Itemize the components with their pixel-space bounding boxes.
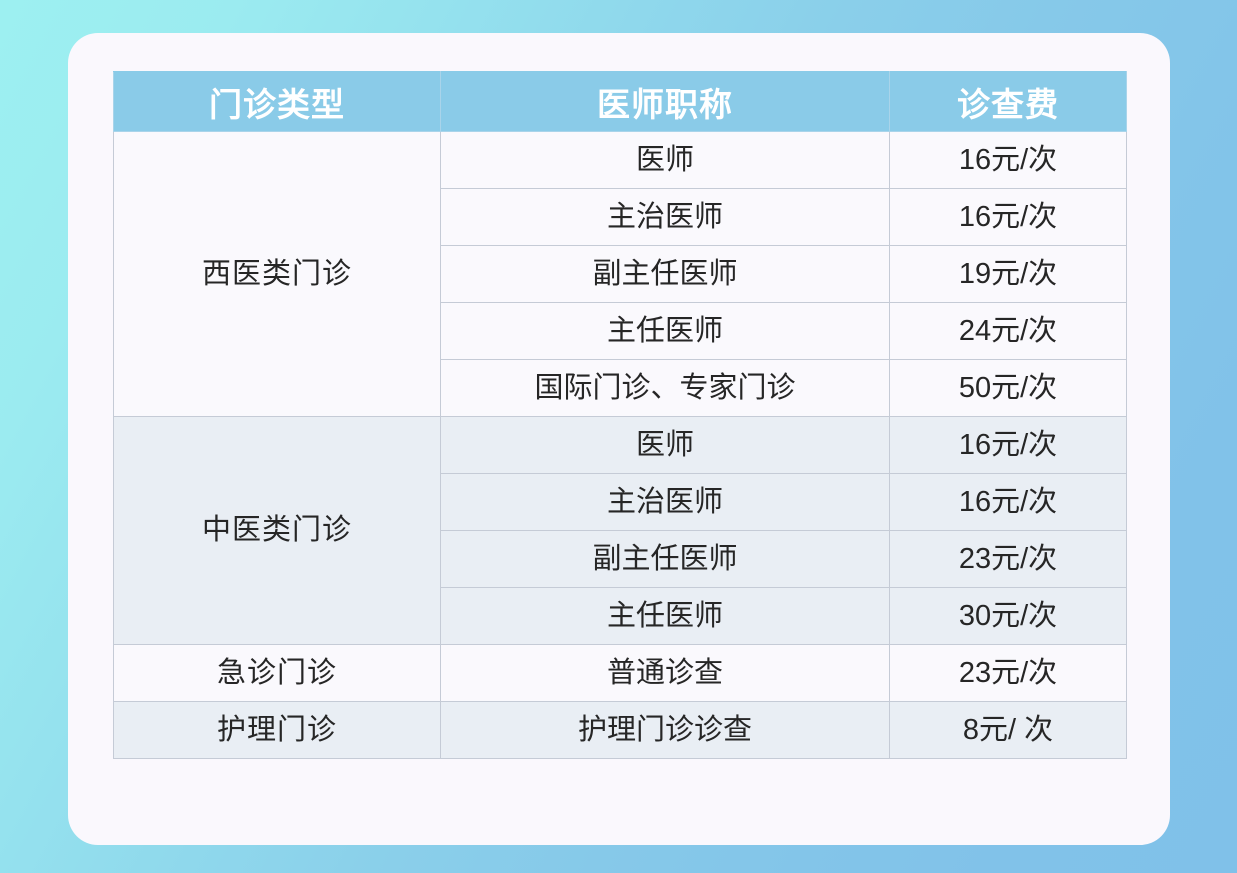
doctor-title-cell: 普通诊查 xyxy=(441,645,890,702)
column-header-title: 医师职称 xyxy=(441,72,890,132)
column-header-fee: 诊查费 xyxy=(890,72,1127,132)
consultation-fee-cell: 23元/次 xyxy=(890,645,1127,702)
table-row: 急诊门诊普通诊查23元/次 xyxy=(114,645,1127,702)
outpatient-type-cell: 护理门诊 xyxy=(114,702,441,759)
table-header-row: 门诊类型 医师职称 诊查费 xyxy=(114,72,1127,132)
consultation-fee-cell: 19元/次 xyxy=(890,246,1127,303)
consultation-fee-cell: 16元/次 xyxy=(890,189,1127,246)
table-body: 西医类门诊医师16元/次主治医师16元/次副主任医师19元/次主任医师24元/次… xyxy=(114,132,1127,759)
consultation-fee-cell: 16元/次 xyxy=(890,474,1127,531)
column-header-type: 门诊类型 xyxy=(114,72,441,132)
doctor-title-cell: 医师 xyxy=(441,132,890,189)
doctor-title-cell: 主任医师 xyxy=(441,588,890,645)
price-table-card: 门诊类型 医师职称 诊查费 西医类门诊医师16元/次主治医师16元/次副主任医师… xyxy=(68,33,1170,845)
doctor-title-cell: 副主任医师 xyxy=(441,531,890,588)
consultation-fee-cell: 16元/次 xyxy=(890,417,1127,474)
doctor-title-cell: 主任医师 xyxy=(441,303,890,360)
outpatient-type-cell: 西医类门诊 xyxy=(114,132,441,417)
doctor-title-cell: 副主任医师 xyxy=(441,246,890,303)
table-row: 中医类门诊医师16元/次 xyxy=(114,417,1127,474)
doctor-title-cell: 主治医师 xyxy=(441,189,890,246)
consultation-fee-cell: 24元/次 xyxy=(890,303,1127,360)
outpatient-type-cell: 中医类门诊 xyxy=(114,417,441,645)
consultation-fee-cell: 8元/ 次 xyxy=(890,702,1127,759)
consultation-fee-cell: 16元/次 xyxy=(890,132,1127,189)
consultation-fee-cell: 50元/次 xyxy=(890,360,1127,417)
doctor-title-cell: 主治医师 xyxy=(441,474,890,531)
doctor-title-cell: 国际门诊、专家门诊 xyxy=(441,360,890,417)
consultation-fee-cell: 23元/次 xyxy=(890,531,1127,588)
table-header: 门诊类型 医师职称 诊查费 xyxy=(114,72,1127,132)
outpatient-type-cell: 急诊门诊 xyxy=(114,645,441,702)
table-row: 护理门诊护理门诊诊查8元/ 次 xyxy=(114,702,1127,759)
consultation-fee-cell: 30元/次 xyxy=(890,588,1127,645)
doctor-title-cell: 医师 xyxy=(441,417,890,474)
table-row: 西医类门诊医师16元/次 xyxy=(114,132,1127,189)
doctor-title-cell: 护理门诊诊查 xyxy=(441,702,890,759)
outpatient-fee-table: 门诊类型 医师职称 诊查费 西医类门诊医师16元/次主治医师16元/次副主任医师… xyxy=(113,71,1127,759)
